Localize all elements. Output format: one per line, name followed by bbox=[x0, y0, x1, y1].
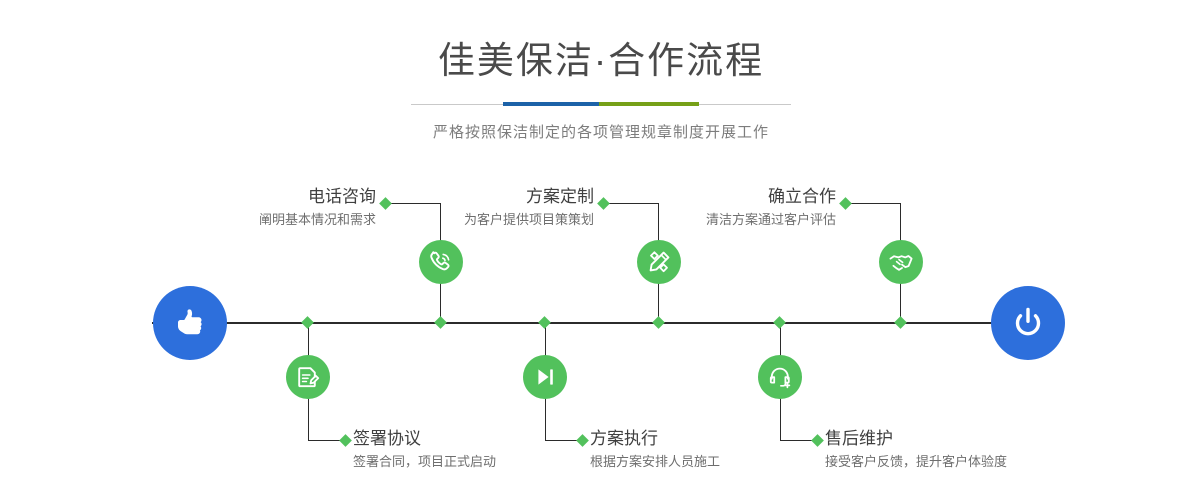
step-3-label: 方案定制 为客户提供项目策策划 bbox=[370, 186, 594, 230]
step-6-title: 售后维护 bbox=[825, 428, 1085, 450]
flow-diagram-page: 佳美保洁·合作流程 严格按照保洁制定的各项管理规章制度开展工作 bbox=[0, 0, 1202, 502]
step-6-desc: 接受客户反馈，提升客户体验度 bbox=[825, 452, 1085, 472]
step-6-node[interactable] bbox=[758, 355, 802, 399]
step-2-desc: 签署合同，项目正式启动 bbox=[353, 452, 603, 472]
step-6-label: 售后维护 接受客户反馈，提升客户体验度 bbox=[825, 428, 1085, 472]
axis-marker bbox=[538, 316, 551, 329]
step-4-node[interactable] bbox=[523, 355, 567, 399]
axis-marker bbox=[301, 316, 314, 329]
step-5-node[interactable] bbox=[879, 240, 923, 284]
timeline-axis bbox=[152, 322, 1050, 324]
axis-marker bbox=[434, 316, 447, 329]
step-5-title: 确立合作 bbox=[610, 186, 836, 208]
step-5-label: 确立合作 清洁方案通过客户评估 bbox=[610, 186, 836, 230]
document-edit-icon bbox=[295, 364, 321, 390]
divider-blue-segment bbox=[503, 102, 599, 106]
page-header: 佳美保洁·合作流程 严格按照保洁制定的各项管理规章制度开展工作 bbox=[0, 0, 1202, 142]
axis-marker bbox=[894, 316, 907, 329]
step-5-elbow bbox=[845, 203, 901, 204]
step-1-label: 电话咨询 阐明基本情况和需求 bbox=[150, 186, 376, 230]
pencil-ruler-icon bbox=[646, 249, 672, 275]
step-3-elbow bbox=[603, 203, 659, 204]
step-3-diamond bbox=[597, 197, 610, 210]
end-endpoint[interactable] bbox=[991, 286, 1065, 360]
pointing-hand-icon bbox=[170, 303, 210, 343]
step-3-title: 方案定制 bbox=[370, 186, 594, 208]
step-5-desc: 清洁方案通过客户评估 bbox=[610, 210, 836, 230]
step-2-label: 签署协议 签署合同，项目正式启动 bbox=[353, 428, 603, 472]
handshake-icon bbox=[888, 249, 914, 275]
axis-marker bbox=[773, 316, 786, 329]
step-1-node[interactable] bbox=[419, 240, 463, 284]
step-2-node[interactable] bbox=[286, 355, 330, 399]
step-3-desc: 为客户提供项目策策划 bbox=[370, 210, 594, 230]
phone-call-icon bbox=[428, 249, 454, 275]
step-3-node[interactable] bbox=[637, 240, 681, 284]
step-4-title: 方案执行 bbox=[590, 428, 830, 450]
step-1-title: 电话咨询 bbox=[150, 186, 376, 208]
page-subtitle: 严格按照保洁制定的各项管理规章制度开展工作 bbox=[0, 121, 1202, 142]
page-title: 佳美保洁·合作流程 bbox=[0, 38, 1202, 84]
step-2-title: 签署协议 bbox=[353, 428, 603, 450]
axis-marker bbox=[652, 316, 665, 329]
step-5-diamond bbox=[839, 197, 852, 210]
power-icon bbox=[1008, 303, 1048, 343]
play-execute-icon bbox=[532, 364, 558, 390]
step-2-diamond bbox=[339, 434, 352, 447]
step-1-desc: 阐明基本情况和需求 bbox=[150, 210, 376, 230]
step-1-elbow bbox=[385, 203, 441, 204]
start-endpoint[interactable] bbox=[153, 286, 227, 360]
headset-support-icon bbox=[767, 364, 793, 390]
step-4-label: 方案执行 根据方案安排人员施工 bbox=[590, 428, 830, 472]
step-4-desc: 根据方案安排人员施工 bbox=[590, 452, 830, 472]
divider-green-segment bbox=[599, 102, 699, 106]
title-divider bbox=[411, 100, 791, 110]
